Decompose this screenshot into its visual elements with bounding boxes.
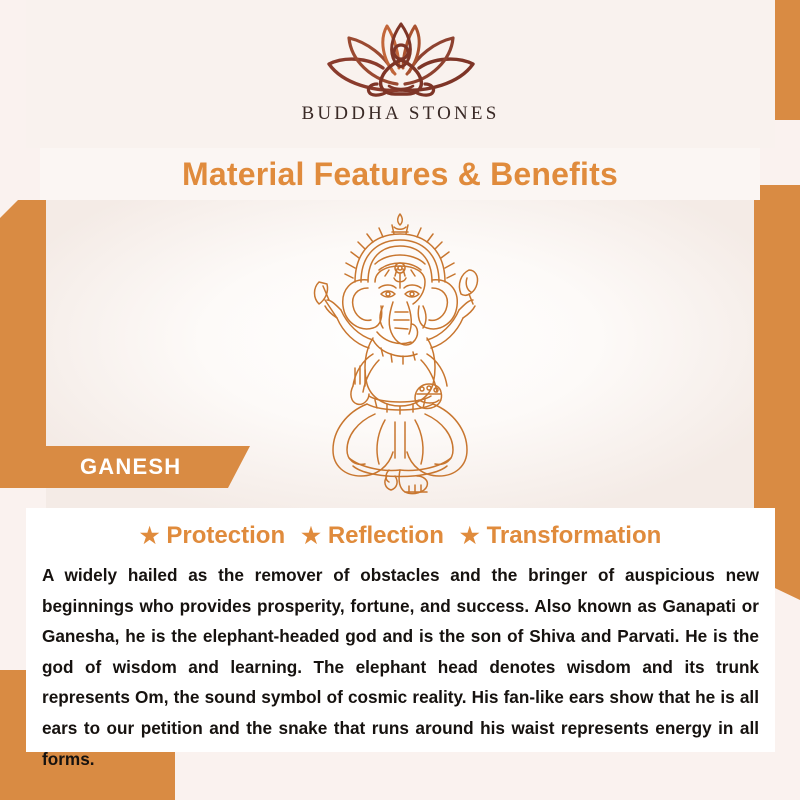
poster-root: BUDDHA STONES Material Features & Benefi…	[0, 0, 800, 800]
keyword-reflection: ★ Reflection	[301, 522, 444, 550]
title-band: Material Features & Benefits	[40, 148, 760, 200]
keyword-protection-label: Protection	[166, 522, 285, 550]
deity-ribbon-label: GANESH	[0, 454, 181, 480]
star-icon: ★	[301, 525, 321, 547]
frame-corner-top-right-vertical	[775, 0, 800, 120]
content-card: ★ Protection ★ Reflection ★ Transformati…	[26, 508, 775, 752]
accent-band-left	[0, 200, 46, 488]
ganesha-line-art-icon	[289, 208, 511, 500]
keyword-reflection-label: Reflection	[328, 522, 444, 550]
deity-ribbon: GANESH	[0, 446, 250, 488]
brand-name: BUDDHA STONES	[301, 103, 499, 125]
star-icon: ★	[140, 525, 160, 547]
star-icon: ★	[460, 525, 480, 547]
frame-corner-bottom-left-vertical	[0, 670, 26, 800]
brand-header: BUDDHA STONES	[26, 0, 775, 148]
description-paragraph: A widely hailed as the remover of obstac…	[34, 560, 767, 774]
keyword-row: ★ Protection ★ Reflection ★ Transformati…	[34, 522, 767, 550]
page-title: Material Features & Benefits	[182, 156, 618, 193]
lotus-meditation-logo-icon	[315, 18, 487, 98]
keyword-transformation: ★ Transformation	[460, 522, 661, 550]
keyword-transformation-label: Transformation	[487, 522, 662, 550]
keyword-protection: ★ Protection	[140, 522, 285, 550]
